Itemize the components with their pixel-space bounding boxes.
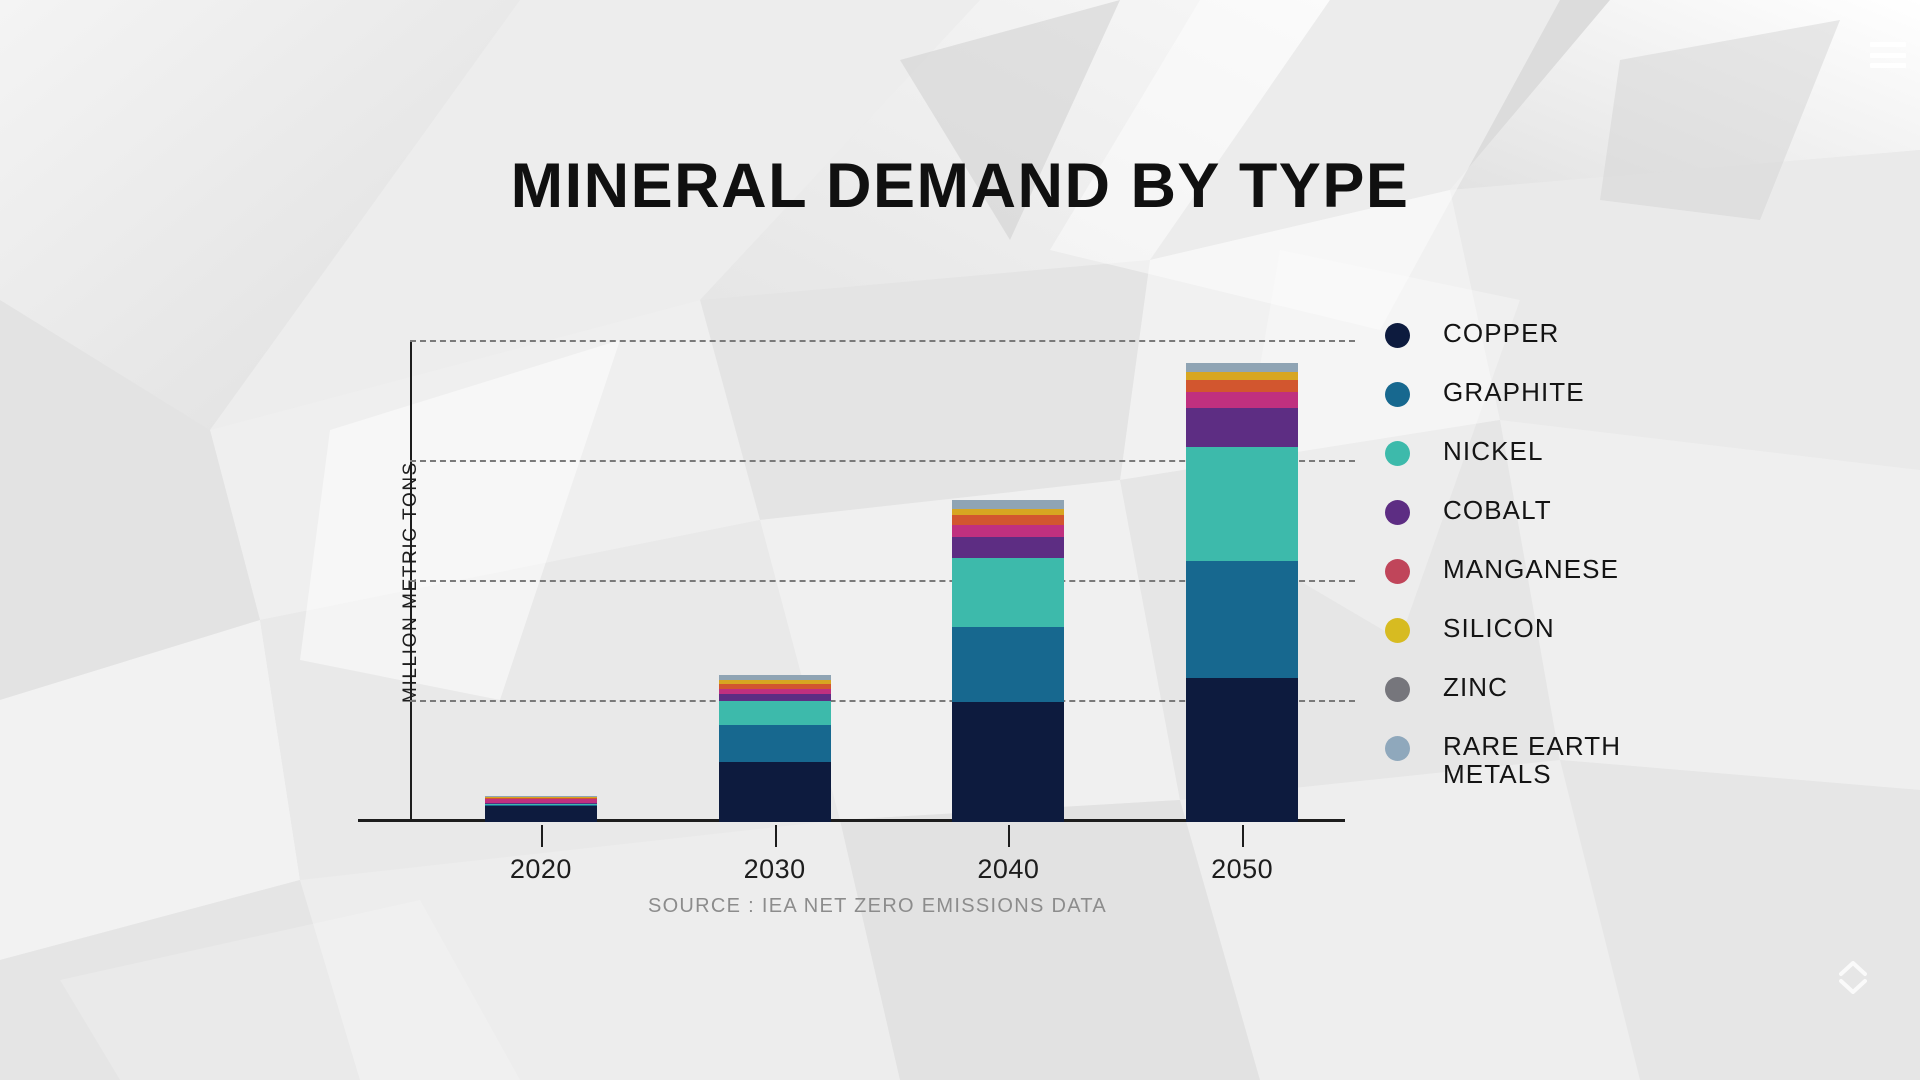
gridline-160 (410, 340, 1355, 342)
legend-swatch-icon (1385, 618, 1410, 643)
stacked-bar[interactable] (952, 500, 1064, 823)
legend-item-manganese[interactable]: MANGANESE (1385, 556, 1805, 584)
x-tick-label-2040: 2040 (977, 854, 1039, 885)
y-axis-title: MILLION METRIC TONS (400, 461, 422, 703)
chevron-up-down-icon[interactable] (1836, 956, 1870, 998)
x-tickmark (775, 825, 777, 847)
plot-area: MILLION METRIC TONS 04080120160 20202030… (410, 342, 1345, 822)
legend-label: ZINC (1443, 674, 1508, 702)
bar-segment-rare-earth-metals (952, 500, 1064, 509)
menu-bar-3 (1870, 63, 1906, 68)
legend-label: RARE EARTH METALS (1443, 733, 1673, 789)
legend-swatch-icon (1385, 441, 1410, 466)
legend-swatch-icon (1385, 500, 1410, 525)
legend-swatch-icon (1385, 323, 1410, 348)
bar-segment-nickel (719, 701, 831, 725)
x-tickmark (541, 825, 543, 847)
bar-segment-silicon (952, 515, 1064, 526)
legend-swatch-icon (1385, 559, 1410, 584)
legend-item-silicon[interactable]: SILICON (1385, 615, 1805, 643)
stacked-bar[interactable] (1186, 363, 1298, 822)
chart-title: MINERAL DEMAND BY TYPE (0, 150, 1920, 222)
bar-segment-graphite (1186, 561, 1298, 678)
bar-segment-manganese (952, 525, 1064, 537)
bar-segment-cobalt (952, 537, 1064, 558)
legend-item-rare-earth-metals[interactable]: RARE EARTH METALS (1385, 733, 1805, 789)
menu-bar-1 (1870, 42, 1906, 47)
legend-swatch-icon (1385, 677, 1410, 702)
bar-segment-manganese (1186, 392, 1298, 409)
hamburger-menu-icon[interactable] (1870, 42, 1906, 68)
chart-legend: COPPERGRAPHITENICKELCOBALTMANGANESESILIC… (1385, 320, 1805, 820)
legend-label: COBALT (1443, 497, 1552, 525)
source-note: SOURCE : IEA NET ZERO EMISSIONS DATA (410, 895, 1345, 918)
legend-label: GRAPHITE (1443, 379, 1585, 407)
bar-segment-copper (485, 806, 597, 823)
legend-item-graphite[interactable]: GRAPHITE (1385, 379, 1805, 407)
bar-segment-silicon (1186, 380, 1298, 392)
x-tick-label-2020: 2020 (510, 854, 572, 885)
bar-segment-copper (1186, 678, 1298, 822)
stacked-bar[interactable] (719, 675, 831, 822)
legend-label: MANGANESE (1443, 556, 1619, 584)
legend-item-copper[interactable]: COPPER (1385, 320, 1805, 348)
stacked-bar[interactable] (485, 796, 597, 822)
bar-segment-nickel (1186, 447, 1298, 561)
x-tickmark (1008, 825, 1010, 847)
legend-label: SILICON (1443, 615, 1555, 643)
bar-segment-copper (719, 762, 831, 822)
bar-segment-rare-earth-metals (1186, 363, 1298, 372)
bar-segment-nickel (952, 558, 1064, 627)
menu-bar-2 (1870, 53, 1906, 58)
bar-segment-zinc (1186, 372, 1298, 380)
legend-item-cobalt[interactable]: COBALT (1385, 497, 1805, 525)
legend-swatch-icon (1385, 382, 1410, 407)
bar-segment-copper (952, 702, 1064, 822)
x-tick-label-2050: 2050 (1211, 854, 1273, 885)
legend-label: COPPER (1443, 320, 1559, 348)
bar-segment-graphite (952, 627, 1064, 702)
bar-segment-cobalt (1186, 408, 1298, 447)
bar-segment-graphite (719, 725, 831, 763)
x-tick-label-2030: 2030 (744, 854, 806, 885)
slide-canvas: MINERAL DEMAND BY TYPE MILLION METRIC TO… (0, 0, 1920, 1080)
legend-item-zinc[interactable]: ZINC (1385, 674, 1805, 702)
legend-item-nickel[interactable]: NICKEL (1385, 438, 1805, 466)
legend-swatch-icon (1385, 736, 1410, 761)
legend-label: NICKEL (1443, 438, 1544, 466)
x-tickmark (1242, 825, 1244, 847)
bar-segment-cobalt (719, 694, 831, 701)
